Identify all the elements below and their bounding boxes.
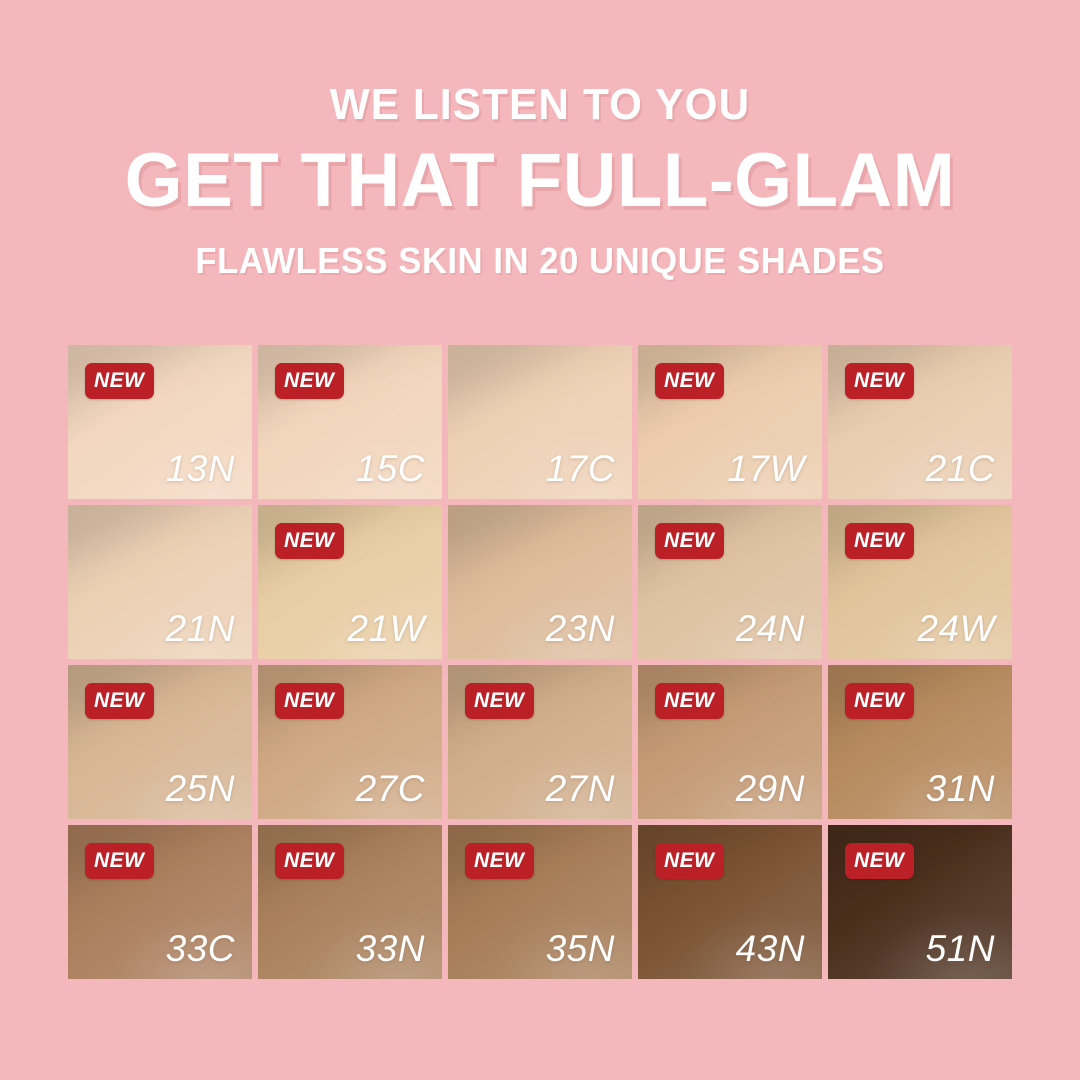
swatch-swipe-shadow bbox=[448, 505, 632, 593]
shade-code-label: 21W bbox=[347, 610, 425, 647]
new-badge: NEW bbox=[845, 843, 914, 879]
shade-code-label: 15C bbox=[356, 450, 425, 487]
shade-swatch[interactable]: NEW27C bbox=[258, 665, 442, 819]
shade-code-label: 21C bbox=[926, 450, 995, 487]
shade-swatch[interactable]: NEW35N bbox=[448, 825, 632, 979]
shade-swatch[interactable]: NEW15C bbox=[258, 345, 442, 499]
new-badge: NEW bbox=[465, 843, 534, 879]
new-badge: NEW bbox=[275, 523, 344, 559]
shade-swatch[interactable]: NEW43N bbox=[638, 825, 822, 979]
shade-code-label: 27C bbox=[356, 770, 425, 807]
shade-swatch[interactable]: NEW27N bbox=[448, 665, 632, 819]
new-badge: NEW bbox=[275, 683, 344, 719]
header-headline: GET THAT FULL-GLAM bbox=[11, 142, 1069, 220]
shade-swatch[interactable]: NEW17W bbox=[638, 345, 822, 499]
shade-code-label: 33N bbox=[356, 930, 425, 967]
new-badge: NEW bbox=[655, 523, 724, 559]
shade-grid: NEW13NNEW15CNEW17CNEW17WNEW21CNEW21NNEW2… bbox=[68, 345, 1012, 979]
shade-swatch[interactable]: NEW51N bbox=[828, 825, 1012, 979]
new-badge: NEW bbox=[655, 683, 724, 719]
shade-code-label: 27N bbox=[546, 770, 615, 807]
shade-code-label: 33C bbox=[166, 930, 235, 967]
swatch-swipe-shadow bbox=[68, 505, 252, 593]
new-badge: NEW bbox=[85, 363, 154, 399]
shade-code-label: 31N bbox=[926, 770, 995, 807]
new-badge: NEW bbox=[275, 363, 344, 399]
shade-code-label: 24N bbox=[736, 610, 805, 647]
shade-swatch[interactable]: NEW21W bbox=[258, 505, 442, 659]
shade-swatch[interactable]: NEW23N bbox=[448, 505, 632, 659]
shade-swatch[interactable]: NEW17C bbox=[448, 345, 632, 499]
shade-code-label: 23N bbox=[546, 610, 615, 647]
shade-swatch[interactable]: NEW13N bbox=[68, 345, 252, 499]
shade-swatch[interactable]: NEW29N bbox=[638, 665, 822, 819]
header-subline: FLAWLESS SKIN IN 20 UNIQUE SHADES bbox=[22, 242, 1059, 280]
swatch-swipe-shadow bbox=[448, 345, 632, 433]
shade-swatch[interactable]: NEW25N bbox=[68, 665, 252, 819]
header-eyebrow: WE LISTEN TO YOU bbox=[22, 82, 1059, 128]
new-badge: NEW bbox=[655, 843, 724, 879]
shade-code-label: 13N bbox=[166, 450, 235, 487]
shade-code-label: 17W bbox=[727, 450, 805, 487]
shade-code-label: 24W bbox=[917, 610, 995, 647]
shade-swatch[interactable]: NEW33N bbox=[258, 825, 442, 979]
shade-swatch[interactable]: NEW21C bbox=[828, 345, 1012, 499]
shade-code-label: 21N bbox=[166, 610, 235, 647]
shade-code-label: 25N bbox=[166, 770, 235, 807]
new-badge: NEW bbox=[465, 683, 534, 719]
shade-swatch[interactable]: NEW33C bbox=[68, 825, 252, 979]
new-badge: NEW bbox=[845, 523, 914, 559]
new-badge: NEW bbox=[85, 683, 154, 719]
shade-code-label: 35N bbox=[546, 930, 615, 967]
shade-code-label: 51N bbox=[926, 930, 995, 967]
shade-swatch[interactable]: NEW24N bbox=[638, 505, 822, 659]
shade-swatch[interactable]: NEW24W bbox=[828, 505, 1012, 659]
promo-header: WE LISTEN TO YOU GET THAT FULL-GLAM FLAW… bbox=[0, 82, 1080, 280]
shade-code-label: 17C bbox=[546, 450, 615, 487]
shade-code-label: 29N bbox=[736, 770, 805, 807]
new-badge: NEW bbox=[845, 683, 914, 719]
new-badge: NEW bbox=[655, 363, 724, 399]
new-badge: NEW bbox=[845, 363, 914, 399]
new-badge: NEW bbox=[85, 843, 154, 879]
new-badge: NEW bbox=[275, 843, 344, 879]
shade-code-label: 43N bbox=[736, 930, 805, 967]
shade-swatch[interactable]: NEW31N bbox=[828, 665, 1012, 819]
shade-swatch[interactable]: NEW21N bbox=[68, 505, 252, 659]
